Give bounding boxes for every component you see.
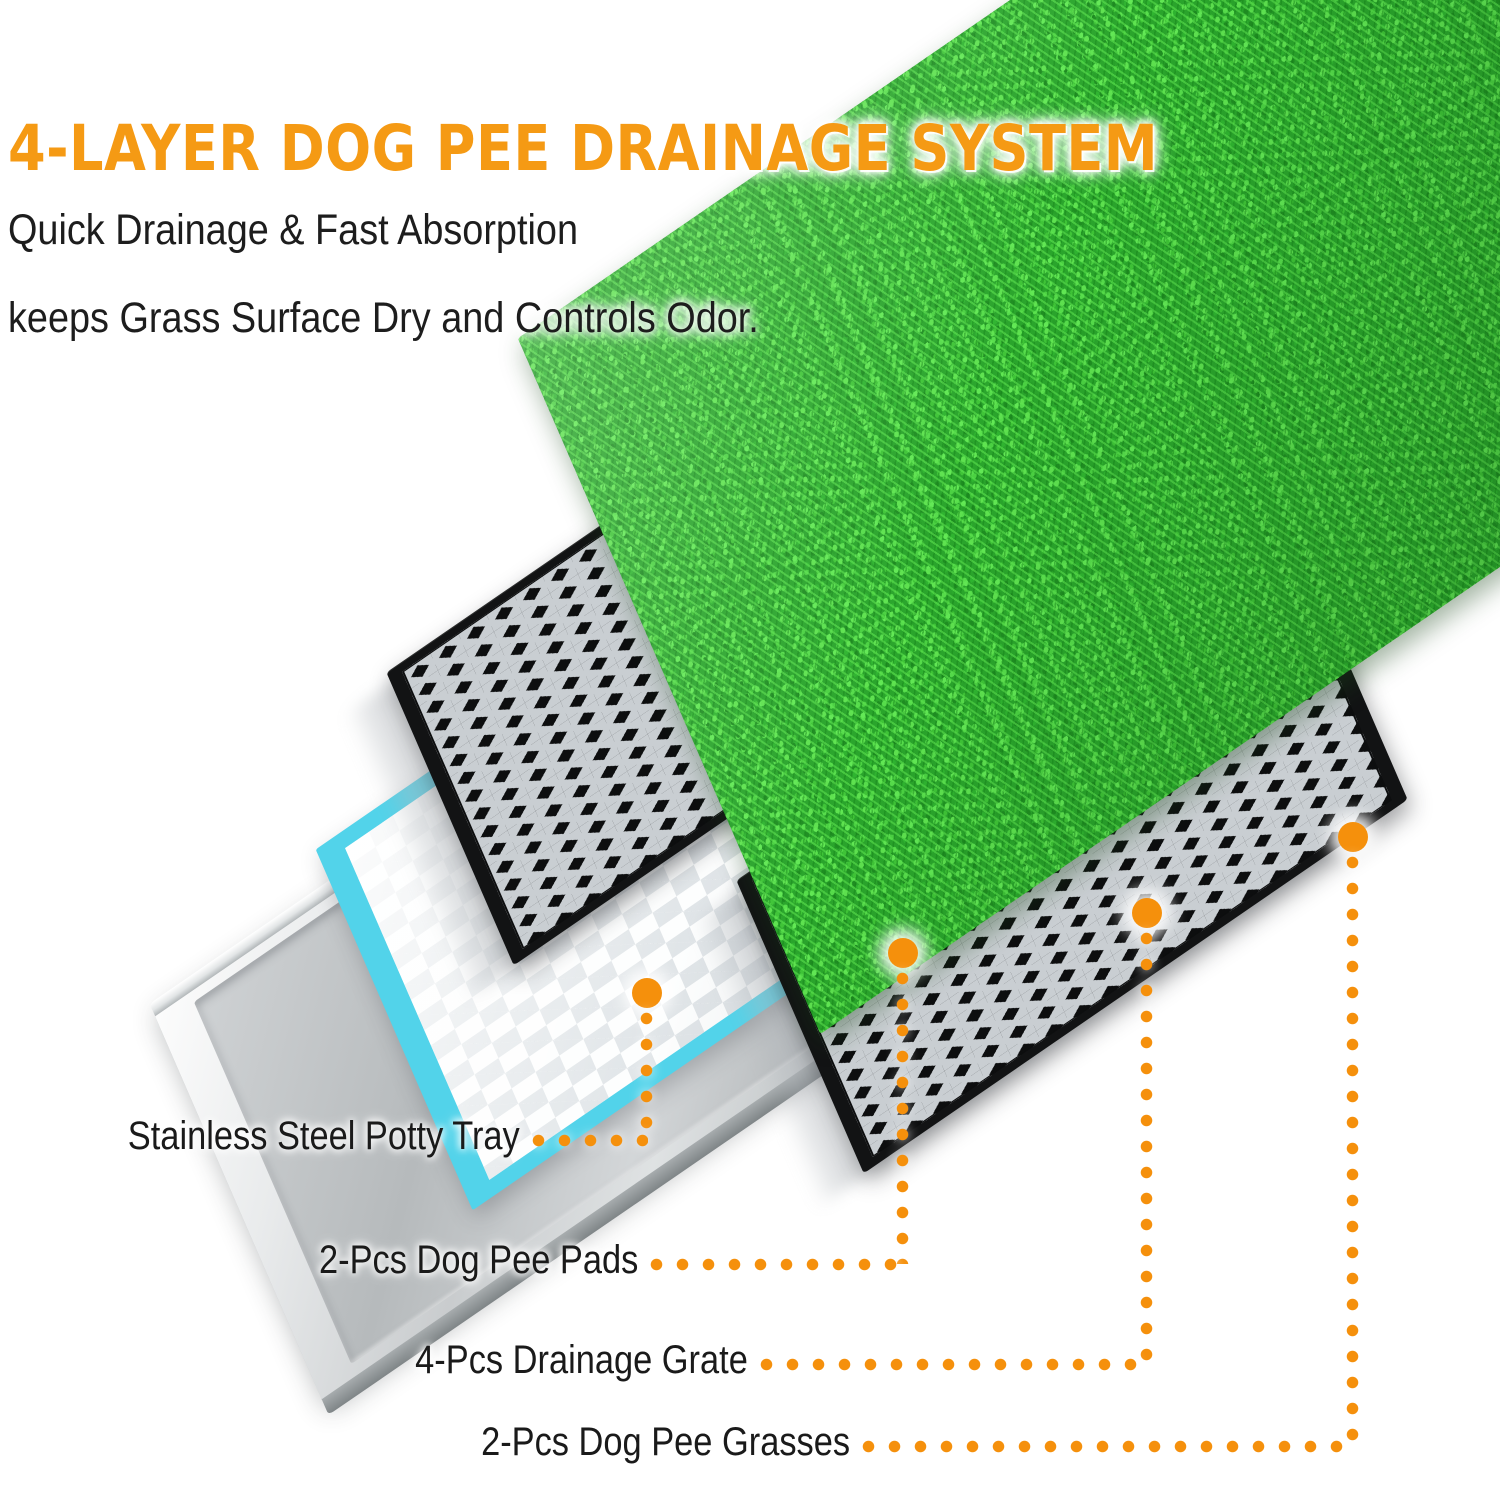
callout-anchor-pads (888, 938, 918, 968)
callout-hline-tray (532, 1134, 648, 1147)
page-title: 4-LAYER DOG PEE DRAINAGE SYSTEM (8, 112, 1158, 185)
callout-label-grass: 2-Pcs Dog Pee Grasses (481, 1420, 850, 1465)
callout-vline-grate (1140, 932, 1153, 1364)
callout-hline-pads (650, 1258, 904, 1271)
callout-label-tray: Stainless Steel Potty Tray (128, 1114, 520, 1159)
callout-anchor-grate (1132, 898, 1162, 928)
callout-hline-grass (862, 1440, 1354, 1453)
callout-label-grate: 4-Pcs Drainage Grate (415, 1338, 748, 1383)
callout-anchor-tray (632, 978, 662, 1008)
callout-vline-pads (896, 972, 909, 1264)
infographic-canvas: 4-LAYER DOG PEE DRAINAGE SYSTEM Quick Dr… (0, 0, 1500, 1499)
callout-label-pads: 2-Pcs Dog Pee Pads (319, 1238, 638, 1283)
callout-vline-grass (1346, 856, 1359, 1446)
callout-hline-grate (760, 1358, 1148, 1371)
subtitle-line-2: keeps Grass Surface Dry and Controls Odo… (8, 294, 759, 343)
subtitle-line-1: Quick Drainage & Fast Absorption (8, 206, 578, 255)
callout-vline-tray (640, 1012, 653, 1140)
callout-anchor-grass (1338, 822, 1368, 852)
